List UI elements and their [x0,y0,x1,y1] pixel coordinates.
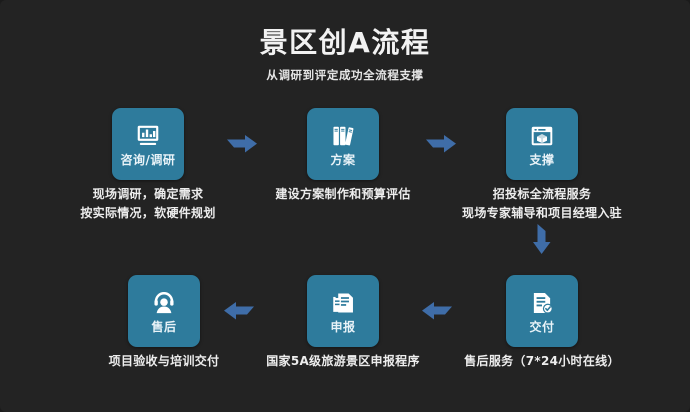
step-caption-consult: 现场调研，确定需求 按实际情况，软硬件规划 [38,185,258,222]
arrow-left-apply-to-aftersales [222,297,256,325]
step-card-label: 支撑 [529,154,554,166]
arrow-right-consult-to-plan [225,130,259,158]
arrow-left-delivery-to-apply [420,297,454,325]
step-caption-support: 招投标全流程服务 现场专家辅导和项目经理入驻 [432,185,652,222]
page-subtitle: 从调研到评定成功全流程支撑 [0,67,690,83]
document-check-icon [529,290,555,316]
bar-chart-icon [135,123,161,149]
documents-icon [330,290,356,316]
step-caption-delivery: 售后服务（7*24小时在线） [432,352,652,371]
step-caption-plan: 建设方案制作和预算评估 [248,185,438,204]
books-icon [330,123,356,149]
page-title: 景区创A流程 [0,26,690,60]
arrow-right-plan-to-support [424,130,458,158]
step-card-plan[interactable]: 方案 [307,108,379,180]
arrow-down-support-to-delivery [528,222,556,256]
step-card-aftersales[interactable]: 售后 [128,275,200,347]
step-card-label: 申报 [330,321,355,333]
headset-support-icon [151,290,177,316]
step-card-label: 方案 [330,154,355,166]
step-card-consult[interactable]: 咨询/调研 [112,108,184,180]
flow-diagram-canvas: 景区创A流程 从调研到评定成功全流程支撑 咨询/调研 现场调研，确定需求 按实际… [0,0,690,412]
window-package-icon [529,123,555,149]
step-card-delivery[interactable]: 交付 [506,275,578,347]
step-card-support[interactable]: 支撑 [506,108,578,180]
step-card-label: 交付 [529,321,554,333]
diagram-header: 景区创A流程 从调研到评定成功全流程支撑 [0,26,690,83]
step-caption-aftersales: 项目验收与培训交付 [54,352,274,371]
step-card-apply[interactable]: 申报 [307,275,379,347]
step-card-label: 售后 [151,321,176,333]
step-card-label: 咨询/调研 [121,154,176,166]
